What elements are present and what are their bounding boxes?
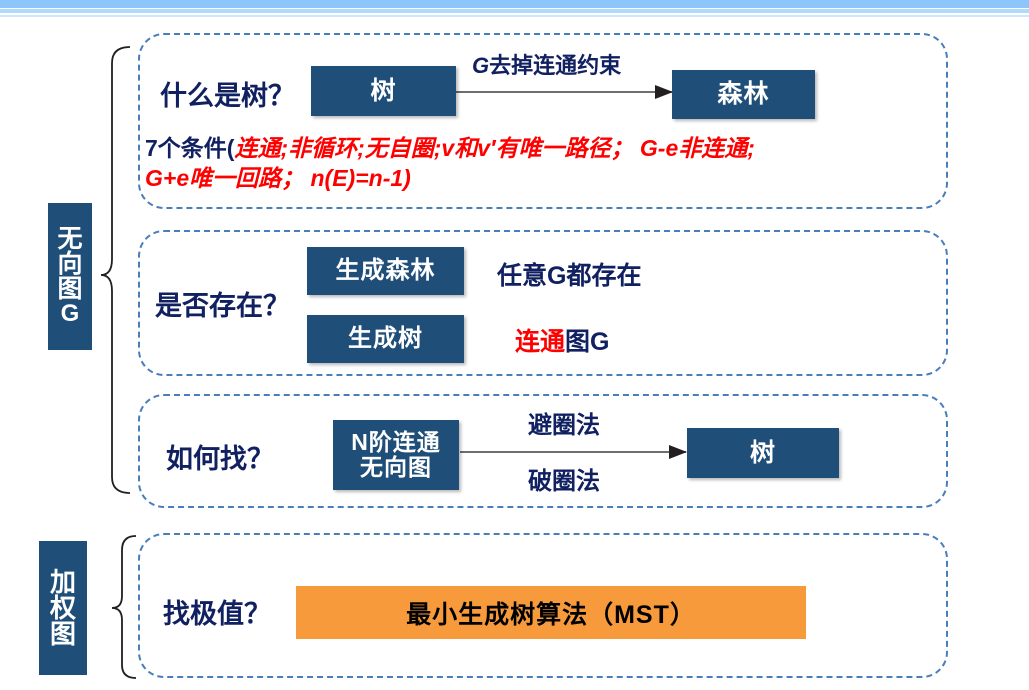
category-label-char: 加 [50,569,76,595]
tree-conditions-text: 7个条件(连通;非循环;无自圈;v和v′有唯一路径； G-e非连通; G+e唯一… [145,133,965,194]
note-connected-graph-navy: 图G [565,328,609,356]
conditions-line-1-red: 连通;非循环;无自圈;v和v′有唯一路径； G-e非连通; [234,135,754,161]
chip-tree[interactable]: 树 [311,66,456,116]
note-connected-graph-red: 连通 [515,328,565,356]
arrow-label-break-cycle: 破圈法 [528,461,600,496]
arrow-label-avoid-cycle: 避圈法 [528,405,600,440]
question-does-it-exist: 是否存在？ [155,284,290,323]
chip-forest[interactable]: 森林 [672,70,815,119]
question-how-to-find: 如何找？ [166,437,274,476]
category-label-char: 无 [57,227,82,252]
top-banner-bar-tertiary [0,15,1029,17]
category-label-weighted-graph: 加 权 图 [39,541,87,675]
chip-line-2: 无向图 [360,455,432,480]
top-banner-bar-primary [0,0,1029,8]
category-label-char: 向 [57,252,82,277]
chip-line-1: N阶连通 [351,430,441,455]
chip-tree-result[interactable]: 树 [687,428,839,478]
arrow-label-remove-connectivity: G去掉连通约束 [472,48,621,80]
chip-spanning-tree[interactable]: 生成树 [307,315,464,363]
arrow-label-rest: 去掉连通约束 [489,53,621,78]
note-any-graph-exists: 任意G都存在 [497,256,641,292]
conditions-line-2-red: G+e唯一回路； n(E)=n-1) [145,165,411,191]
category-label-undirected-graph: 无 向 图 G [48,203,92,350]
category-label-char: 图 [57,277,82,302]
category-label-char: 图 [50,621,76,647]
question-what-is-tree: 什么是树？ [160,74,295,113]
top-banner-bar-secondary [0,9,1029,13]
category-label-char: 权 [50,595,76,621]
slide-canvas: 无 向 图 G 加 权 图 什么是树？ 树 森林 G去掉连通约束 7个条件(连通… [0,0,1029,690]
question-find-extremum: 找极值？ [163,592,271,631]
arrow-label-italic-part: G [472,53,489,78]
conditions-prefix: 7个条件( [145,135,234,161]
chip-mst-algorithm[interactable]: 最小生成树算法（MST） [296,586,806,639]
note-connected-graph: 连通图G [515,322,609,358]
chip-spanning-forest[interactable]: 生成森林 [307,247,464,295]
category-label-char: G [61,302,80,326]
chip-n-order-connected-undirected-graph[interactable]: N阶连通 无向图 [333,420,459,490]
